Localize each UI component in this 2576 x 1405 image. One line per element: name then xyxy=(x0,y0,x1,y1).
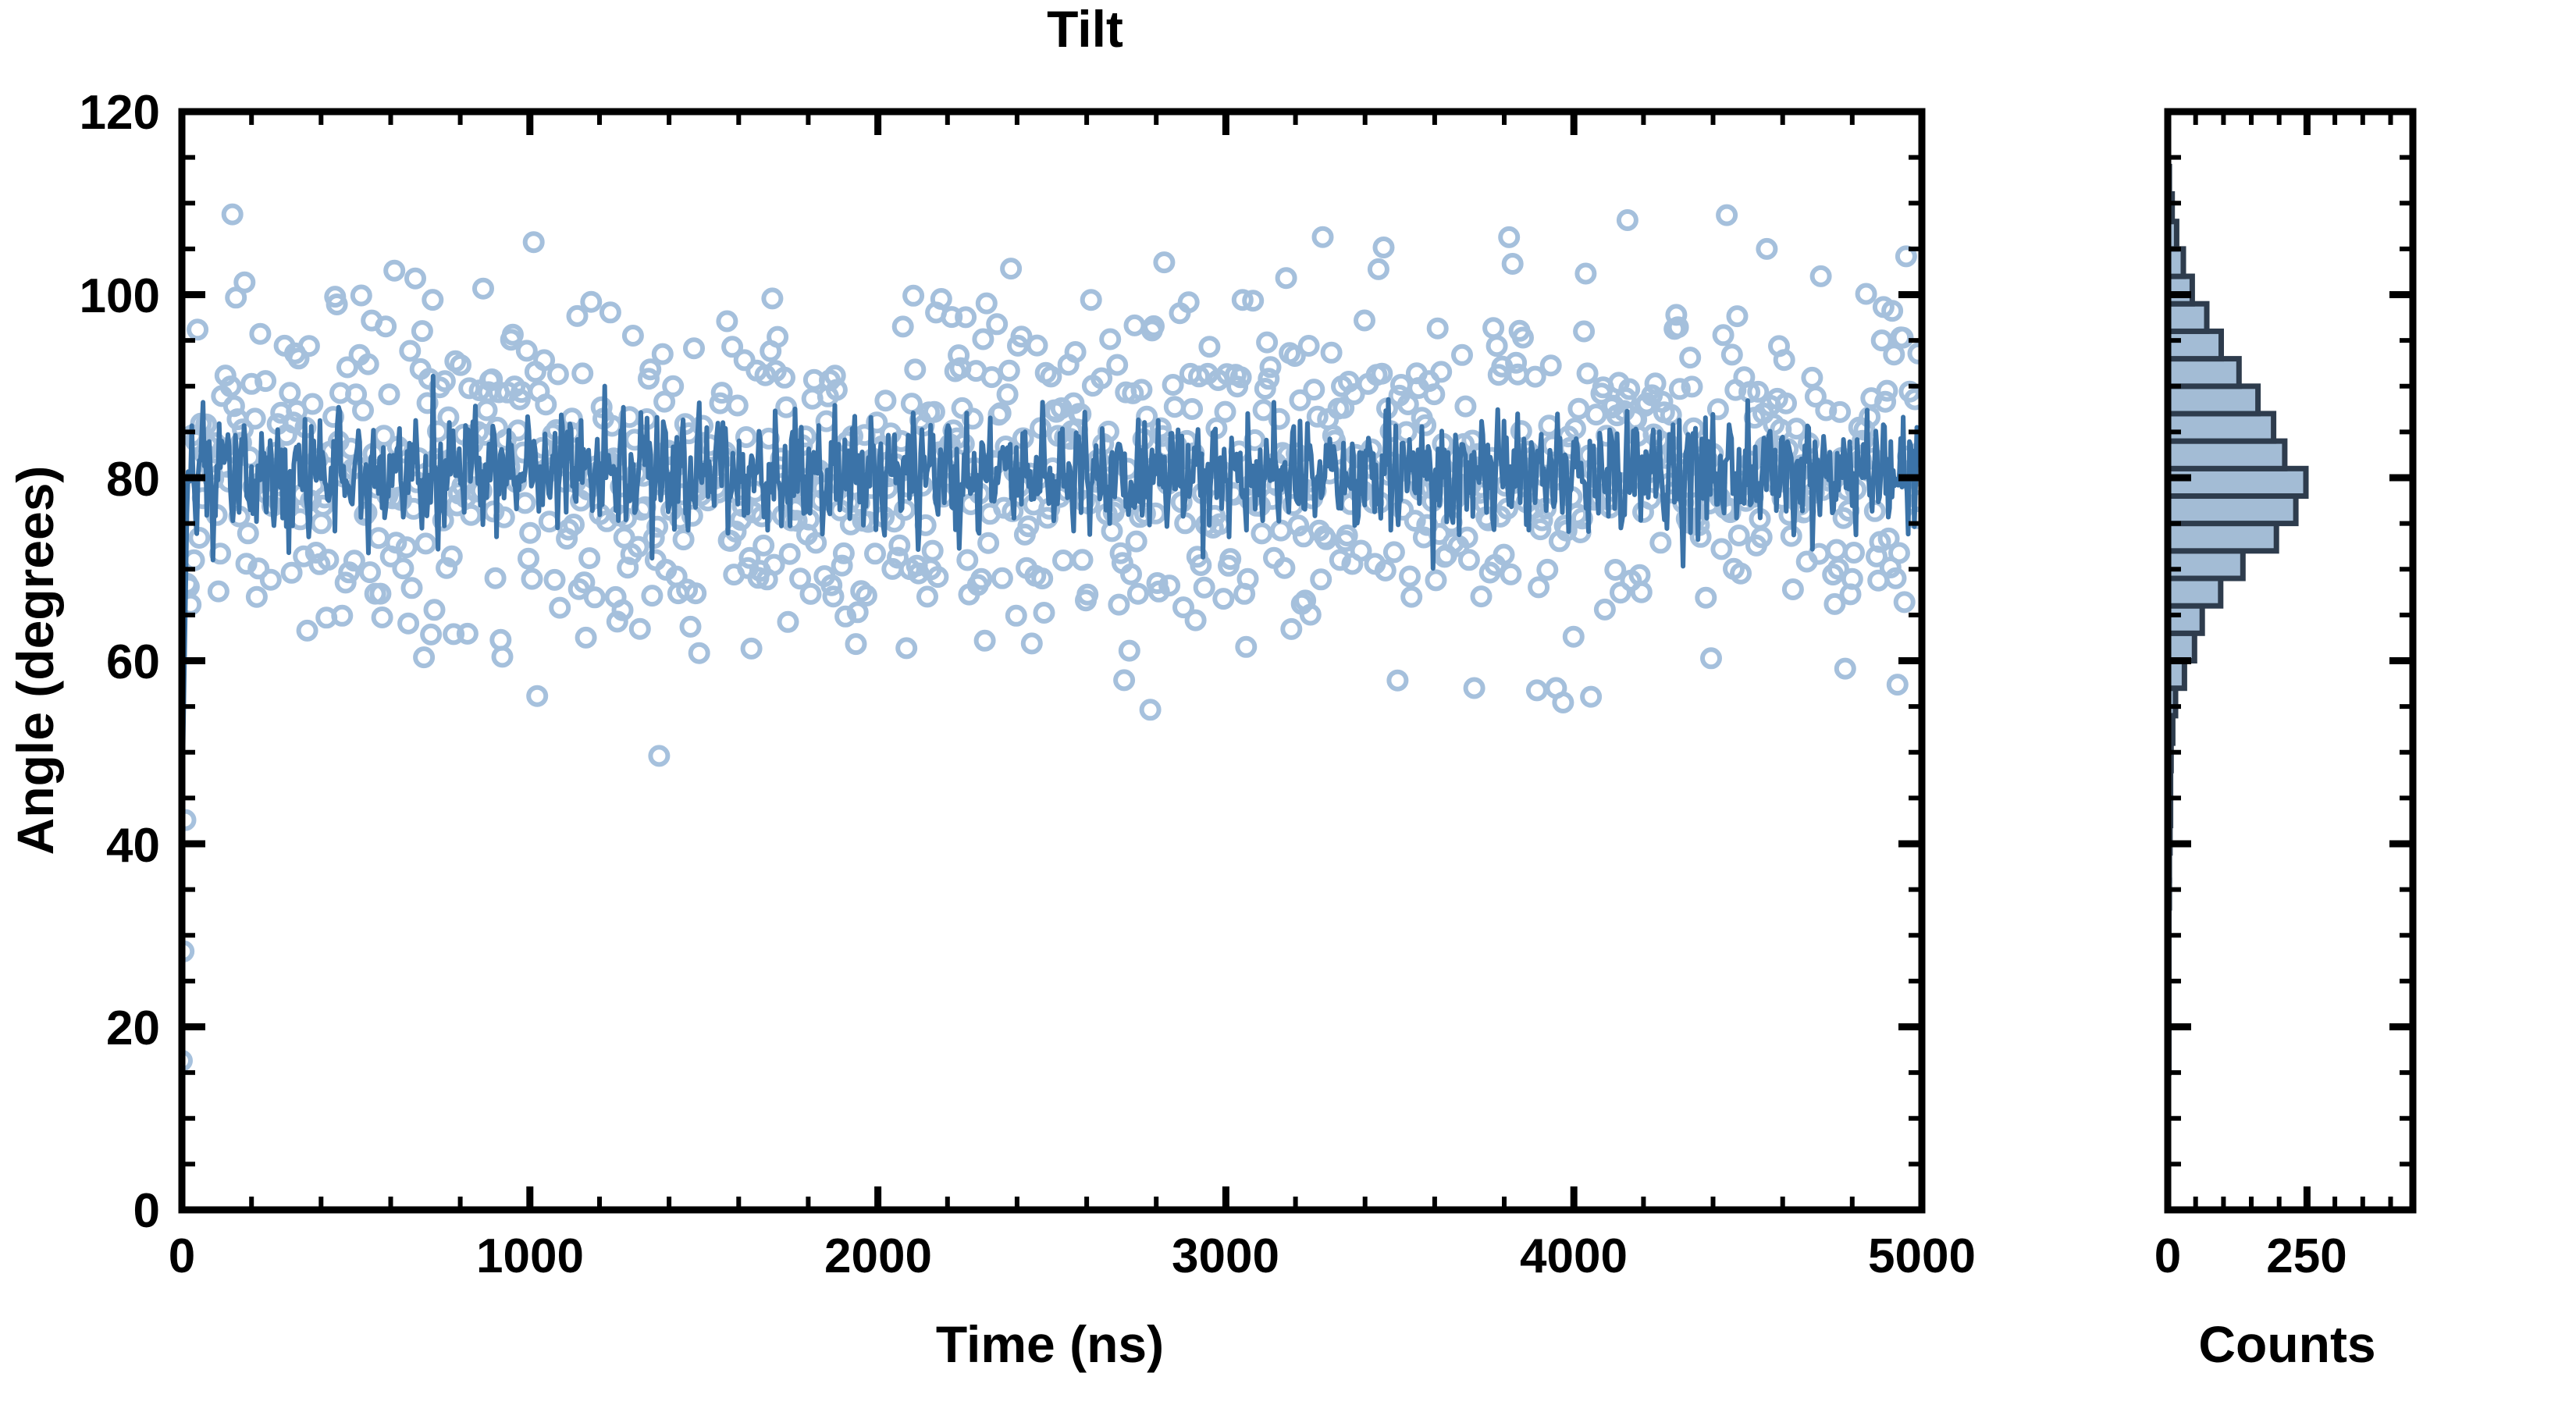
hist-x-ticklabel: 250 xyxy=(2266,1229,2347,1283)
x-ticklabel: 2000 xyxy=(824,1229,932,1283)
page-title: Tilt xyxy=(1047,0,1123,58)
x-ticklabel: 0 xyxy=(169,1229,195,1283)
x-axis-label: Time (ns) xyxy=(936,1315,1164,1373)
y-ticklabel: 120 xyxy=(80,86,160,140)
tilt-figure-svg: Tilt 120 100 80 60 40 20 0 0 1000 xyxy=(0,0,2576,1405)
hist-x-axis-label: Counts xyxy=(2198,1315,2375,1373)
y-ticklabel: 40 xyxy=(106,819,160,873)
x-ticklabel: 3000 xyxy=(1172,1229,1279,1283)
y-ticklabel: 80 xyxy=(106,453,160,507)
figure-root: Tilt 120 100 80 60 40 20 0 0 1000 xyxy=(0,0,2576,1405)
y-ticklabel: 20 xyxy=(106,1001,160,1055)
y-ticklabel: 0 xyxy=(133,1184,160,1238)
x-ticklabel: 1000 xyxy=(476,1229,584,1283)
y-axis-label: Angle (degrees) xyxy=(6,466,64,855)
hist-x-ticklabel: 0 xyxy=(2154,1229,2181,1283)
y-ticklabel: 100 xyxy=(80,269,160,323)
x-ticklabel: 5000 xyxy=(1868,1229,1976,1283)
y-ticklabel: 60 xyxy=(106,635,160,689)
figure-background xyxy=(0,0,2576,1405)
x-ticklabel: 4000 xyxy=(1520,1229,1628,1283)
